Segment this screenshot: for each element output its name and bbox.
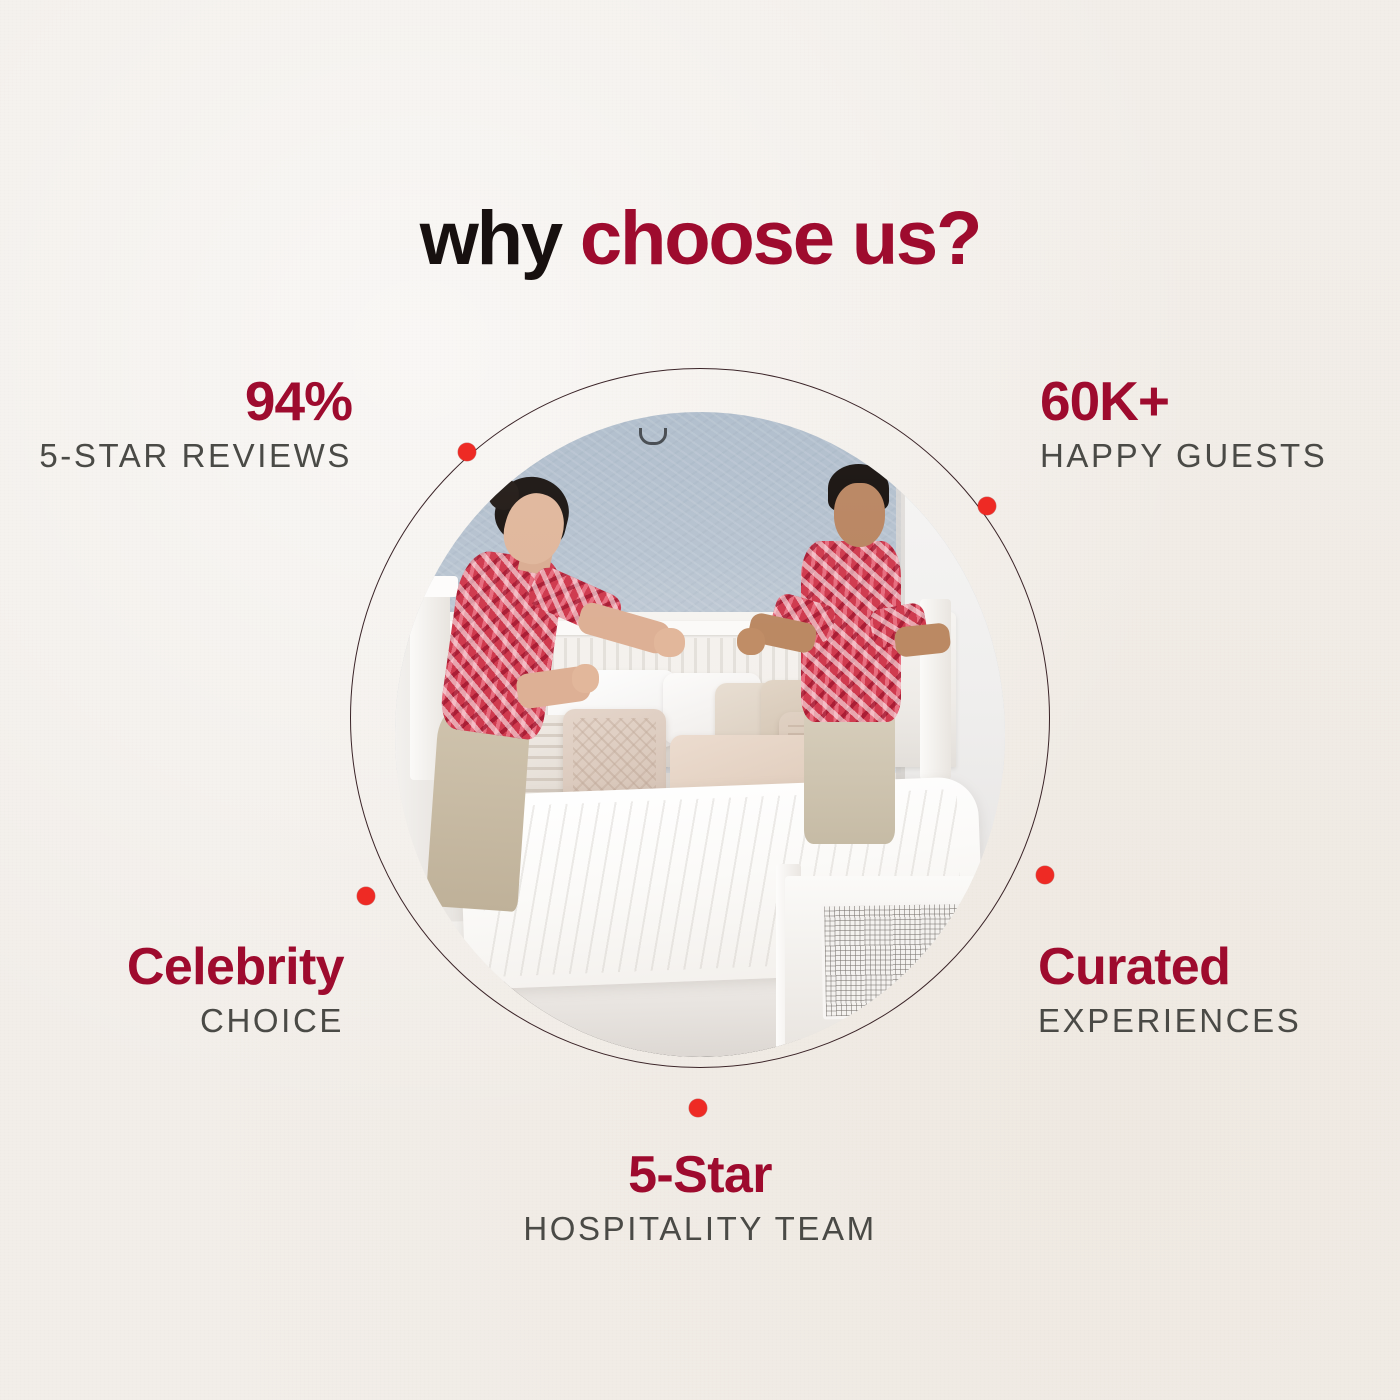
man-trousers (804, 702, 896, 844)
hero-photo-circle (395, 412, 1005, 1057)
man-right-forearm (894, 622, 952, 657)
title-part-dark: why (420, 196, 561, 281)
bedroom-photo (395, 412, 1005, 1057)
man-left-hand (737, 628, 765, 655)
woman-hand (654, 628, 685, 657)
title-part-accent: choose us? (580, 196, 980, 281)
ring-dot-bottom (689, 1099, 707, 1117)
stat-value: Celebrity (0, 940, 344, 995)
stat-hospitality-team: 5-Star HOSPITALITY TEAM (400, 1148, 1000, 1249)
ring-dot-right (1036, 866, 1054, 884)
ring-dot-left (357, 887, 375, 905)
page-title: why choose us? (0, 199, 1400, 279)
stat-label: HAPPY GUESTS (1040, 436, 1400, 476)
infographic-canvas: why choose us? (0, 0, 1400, 1400)
stat-label: HOSPITALITY TEAM (400, 1209, 1000, 1249)
stat-value: Curated (1038, 940, 1400, 995)
stat-value: 60K+ (1040, 372, 1400, 430)
stat-curated-experiences: Curated EXPERIENCES (1038, 940, 1400, 1041)
stat-five-star-reviews: 94% 5-STAR REVIEWS (0, 372, 360, 476)
stat-happy-guests: 60K+ HAPPY GUESTS (1040, 372, 1400, 476)
stat-label: 5-STAR REVIEWS (0, 436, 352, 476)
woman-trousers (425, 712, 530, 911)
stat-label: EXPERIENCES (1038, 1001, 1400, 1041)
stat-label: CHOICE (0, 1001, 344, 1041)
stat-value: 94% (0, 372, 352, 430)
ring-dot-top-left (458, 443, 476, 461)
headboard-post-cap (402, 576, 458, 597)
ring-dot-top-right (978, 497, 996, 515)
stat-celebrity-choice: Celebrity CHOICE (0, 940, 352, 1041)
woman-second-hand (572, 664, 599, 693)
rattan-cane-panel (821, 901, 994, 1020)
man-head (834, 483, 885, 548)
stat-value: 5-Star (400, 1148, 1000, 1203)
